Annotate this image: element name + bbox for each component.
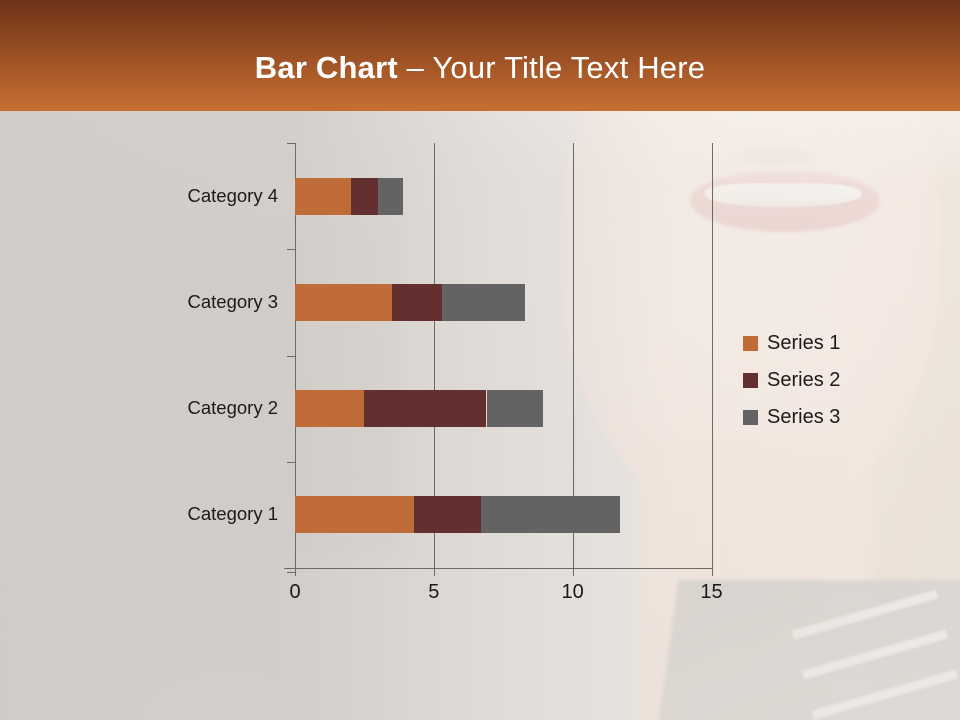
- legend-item[interactable]: Series 3: [743, 399, 840, 436]
- y-axis-tick: [287, 462, 295, 463]
- category-label: Category 1: [18, 503, 278, 525]
- y-axis-tick: [287, 356, 295, 357]
- slide: Bar Chart – Your Title Text Here Categor…: [0, 0, 960, 720]
- category-label: Category 4: [18, 185, 278, 207]
- category-label-wrap: Category 3: [18, 291, 278, 313]
- chart-legend: Series 1Series 2Series 3: [743, 325, 840, 436]
- y-axis-tick: [287, 572, 295, 573]
- y-axis-tick: [287, 143, 295, 144]
- x-axis-tick: [434, 568, 435, 576]
- bar-segment[interactable]: [481, 496, 620, 533]
- category-label: Category 3: [18, 291, 278, 313]
- legend-item[interactable]: Series 1: [743, 325, 840, 362]
- bar-segment[interactable]: [295, 496, 414, 533]
- bar-segment[interactable]: [295, 390, 364, 427]
- legend-swatch-icon: [743, 373, 758, 388]
- legend-label: Series 1: [767, 332, 840, 355]
- legend-label: Series 3: [767, 406, 840, 429]
- bar-segment[interactable]: [487, 390, 543, 427]
- bar-segment[interactable]: [295, 178, 351, 215]
- bar-segment[interactable]: [378, 178, 403, 215]
- bar-segment[interactable]: [414, 496, 481, 533]
- legend-swatch-icon: [743, 410, 758, 425]
- x-axis-tick-label: 10: [543, 581, 603, 604]
- category-label-wrap: Category 2: [18, 397, 278, 419]
- x-axis-tick-label: 5: [404, 581, 464, 604]
- legend-swatch-icon: [743, 336, 758, 351]
- gridline: [712, 143, 713, 568]
- category-label: Category 2: [18, 397, 278, 419]
- category-label-wrap: Category 4: [18, 185, 278, 207]
- x-axis-tick: [573, 568, 574, 576]
- legend-label: Series 2: [767, 369, 840, 392]
- bar-segment[interactable]: [442, 284, 525, 321]
- x-axis-tick-label: 15: [682, 581, 742, 604]
- legend-item[interactable]: Series 2: [743, 362, 840, 399]
- x-axis-tick: [295, 568, 296, 576]
- bar-segment[interactable]: [351, 178, 379, 215]
- bar-segment[interactable]: [295, 284, 392, 321]
- x-axis-tick-label: 0: [265, 581, 325, 604]
- bar-segment[interactable]: [392, 284, 442, 321]
- x-axis-tick: [712, 568, 713, 576]
- y-axis-tick: [287, 249, 295, 250]
- x-axis-line: [284, 568, 712, 569]
- category-label-wrap: Category 1: [18, 503, 278, 525]
- bar-segment[interactable]: [364, 390, 486, 427]
